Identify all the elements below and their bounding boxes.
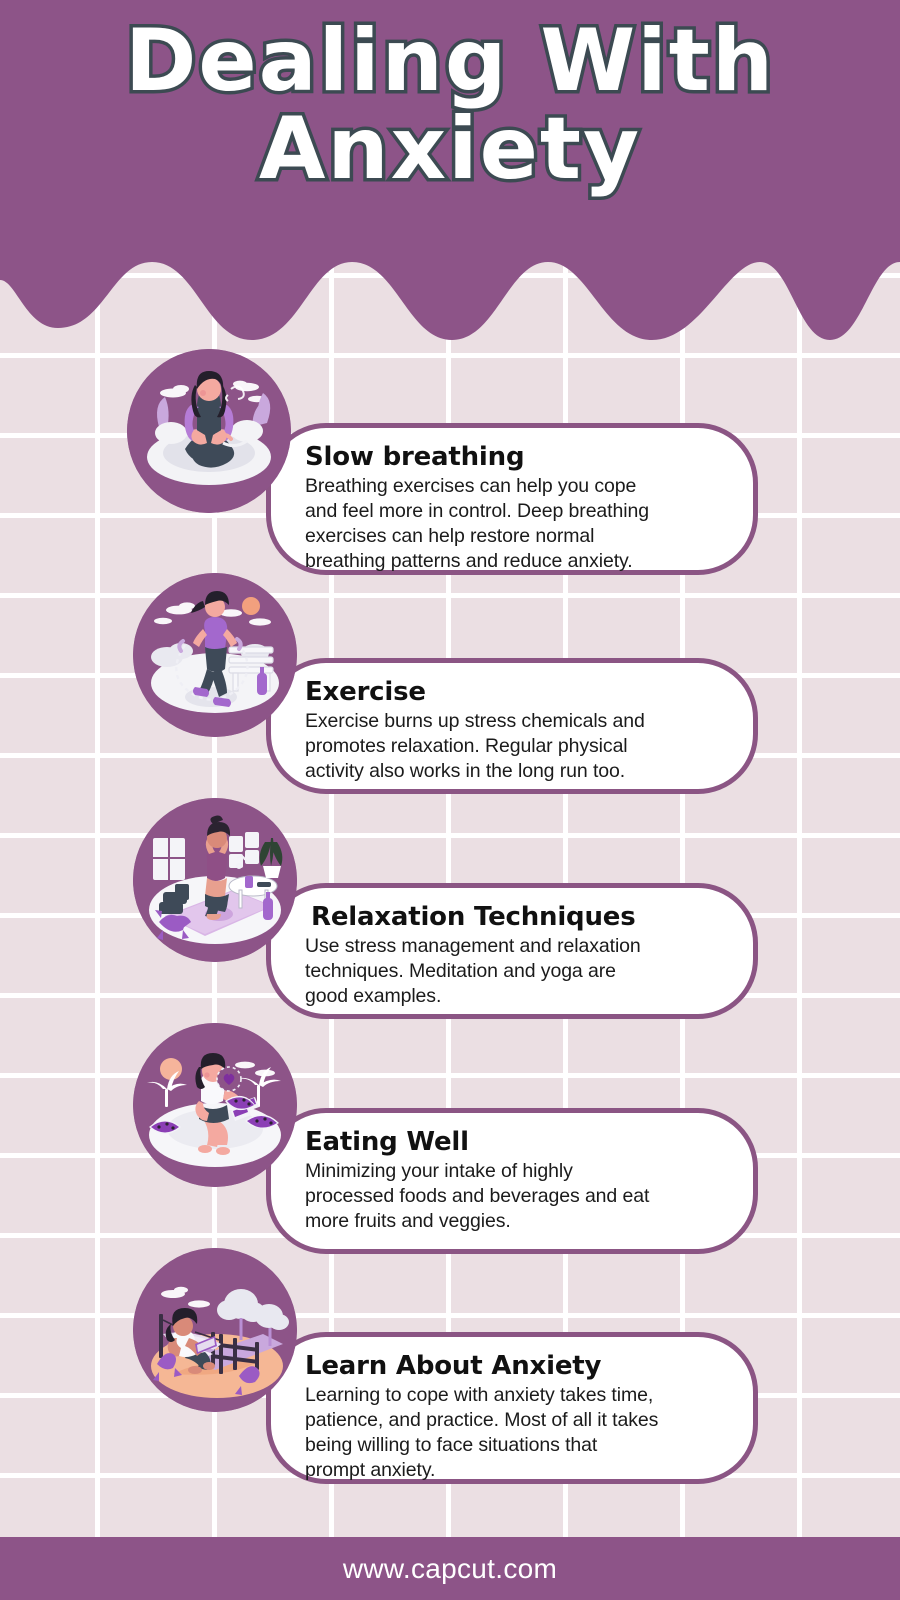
card-learn-about-anxiety[interactable]: Learn About Anxiety Learning to cope wit…: [266, 1332, 758, 1484]
card-body: Breathing exercises can help you cope an…: [305, 474, 719, 574]
title-line-2: Anxiety: [0, 106, 900, 194]
card-exercise[interactable]: Exercise Exercise burns up stress chemic…: [266, 658, 758, 794]
header-banner: Dealing With Anxiety: [0, 0, 900, 340]
woman-meditating-icon: [127, 349, 291, 513]
woman-jumping-rope-icon: [133, 573, 297, 737]
card-eating-well[interactable]: Eating Well Minimizing your intake of hi…: [266, 1108, 758, 1254]
woman-doing-yoga-icon: [133, 798, 297, 962]
card-title: Exercise: [305, 677, 719, 707]
woman-eating-watermelon-icon: [133, 1023, 297, 1187]
card-relaxation-techniques[interactable]: Relaxation Techniques Use stress managem…: [266, 883, 758, 1019]
card-slow-breathing[interactable]: Slow breathing Breathing exercises can h…: [266, 423, 758, 575]
header-wave-divider: [0, 228, 900, 340]
footer-bar: www.capcut.com: [0, 1537, 900, 1600]
card-title: Slow breathing: [305, 442, 719, 472]
woman-reading-in-hammock-icon: [133, 1248, 297, 1412]
footer-url[interactable]: www.capcut.com: [343, 1553, 557, 1585]
card-title: Relaxation Techniques: [305, 902, 719, 932]
card-body: Use stress management and relaxation tec…: [305, 934, 719, 1009]
card-title: Eating Well: [305, 1127, 719, 1157]
title-line-1: Dealing With: [0, 18, 900, 106]
card-body: Learning to cope with anxiety takes time…: [305, 1383, 719, 1483]
card-body: Exercise burns up stress chemicals and p…: [305, 709, 719, 784]
page-title: Dealing With Anxiety: [0, 18, 900, 193]
card-title: Learn About Anxiety: [305, 1351, 719, 1381]
card-body: Minimizing your intake of highly process…: [305, 1159, 719, 1234]
